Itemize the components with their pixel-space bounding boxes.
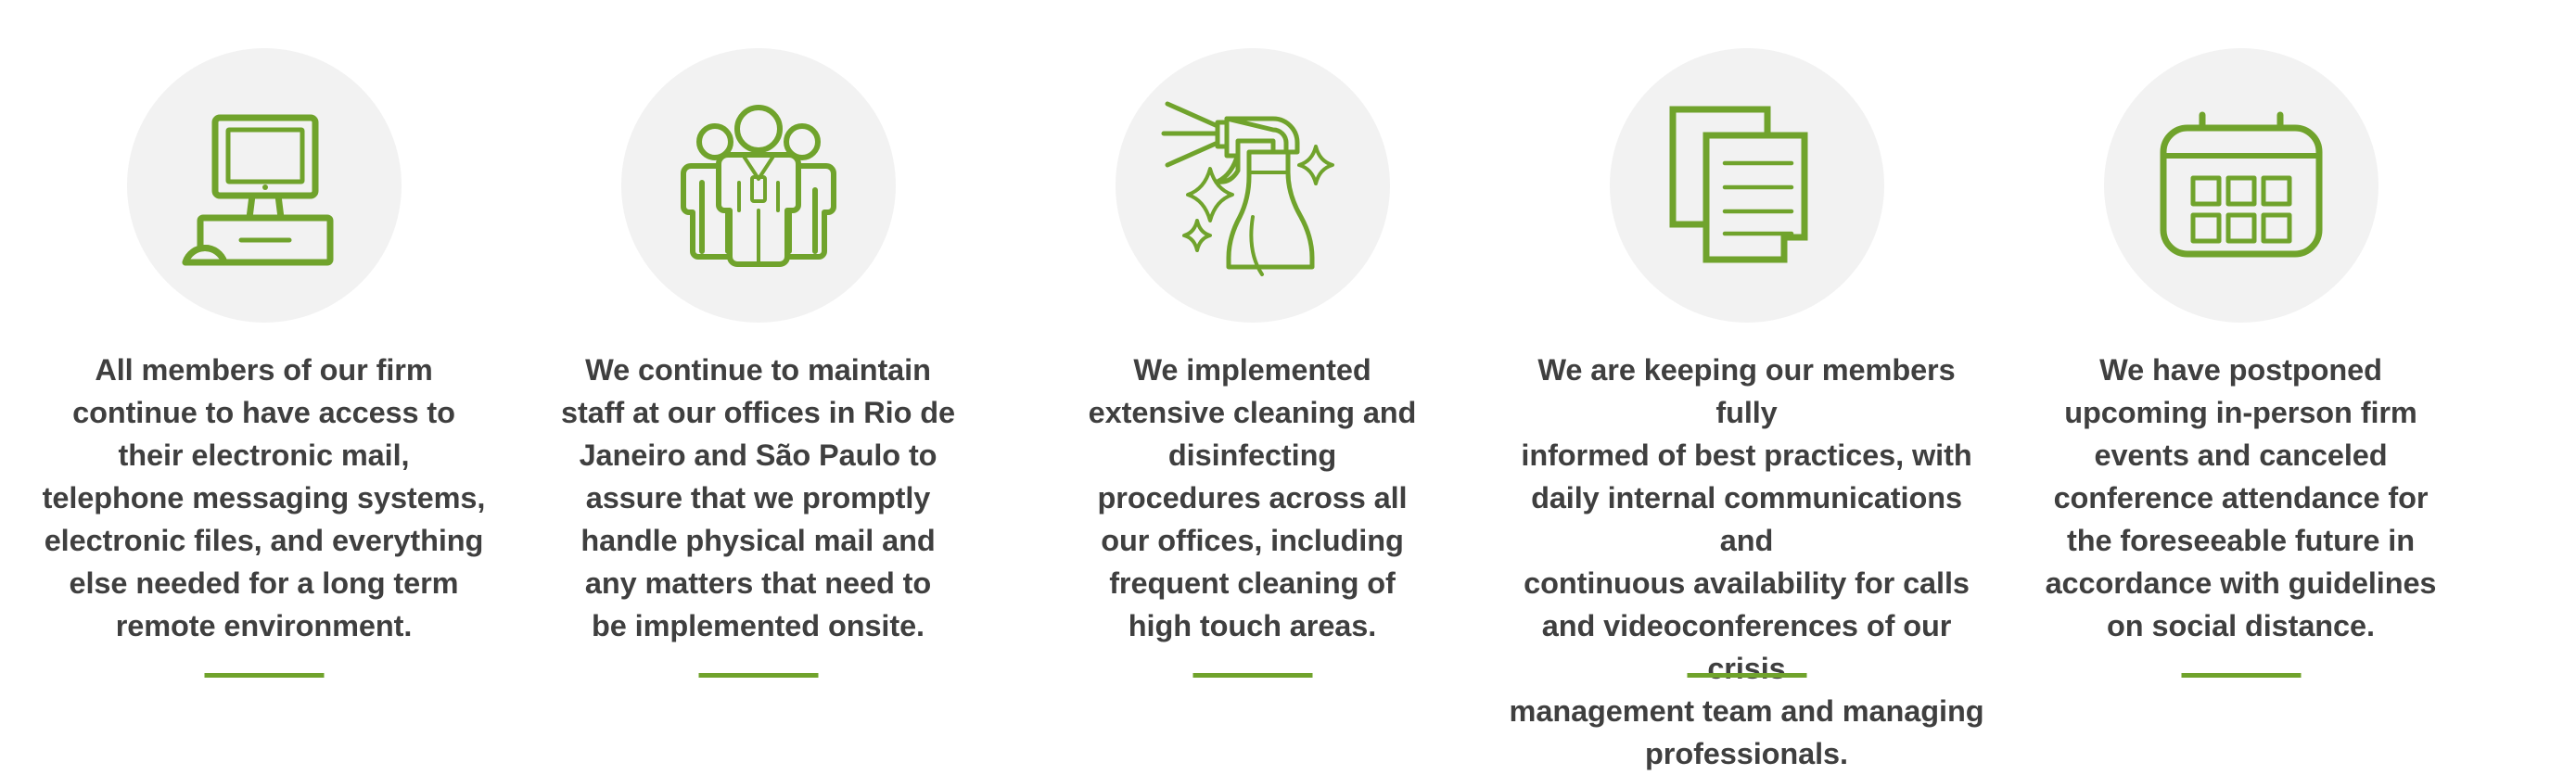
accent-rule-4 xyxy=(1687,673,1806,678)
icon-badge-4 xyxy=(1610,48,1884,323)
feature-column-remote-access: All members of our firm continue to have… xyxy=(17,0,511,715)
accent-rule-5 xyxy=(2181,673,2301,678)
icon-badge-3 xyxy=(1116,48,1390,323)
column-text-1: All members of our firm continue to have… xyxy=(32,349,496,647)
feature-column-communications: We are keeping our members fully informe… xyxy=(1499,0,1994,715)
accent-rule-1 xyxy=(204,673,324,678)
feature-column-events: We have postponed upcoming in-person fir… xyxy=(1994,0,2488,715)
icon-badge-5 xyxy=(2104,48,2378,323)
documents-icon xyxy=(1664,102,1830,269)
feature-column-staffed-offices: We continue to maintain staff at our off… xyxy=(511,0,1005,715)
feature-columns-board: All members of our firm continue to have… xyxy=(0,0,2576,715)
feature-column-cleaning: We implemented extensive cleaning and di… xyxy=(1005,0,1499,715)
accent-rule-3 xyxy=(1192,673,1312,678)
accent-rule-2 xyxy=(698,673,818,678)
column-text-3: We implemented extensive cleaning and di… xyxy=(1067,349,1438,647)
group-of-people-icon xyxy=(670,97,847,273)
calendar-icon xyxy=(2156,100,2327,271)
desktop-computer-icon xyxy=(176,97,352,273)
icon-badge-2 xyxy=(621,48,896,323)
column-text-2: We continue to maintain staff at our off… xyxy=(541,349,976,647)
column-text-5: We have postponed upcoming in-person fir… xyxy=(2023,349,2459,647)
icon-badge-1 xyxy=(127,48,402,323)
spray-bottle-icon xyxy=(1160,93,1345,278)
column-text-4: We are keeping our members fully informe… xyxy=(1499,349,1994,775)
